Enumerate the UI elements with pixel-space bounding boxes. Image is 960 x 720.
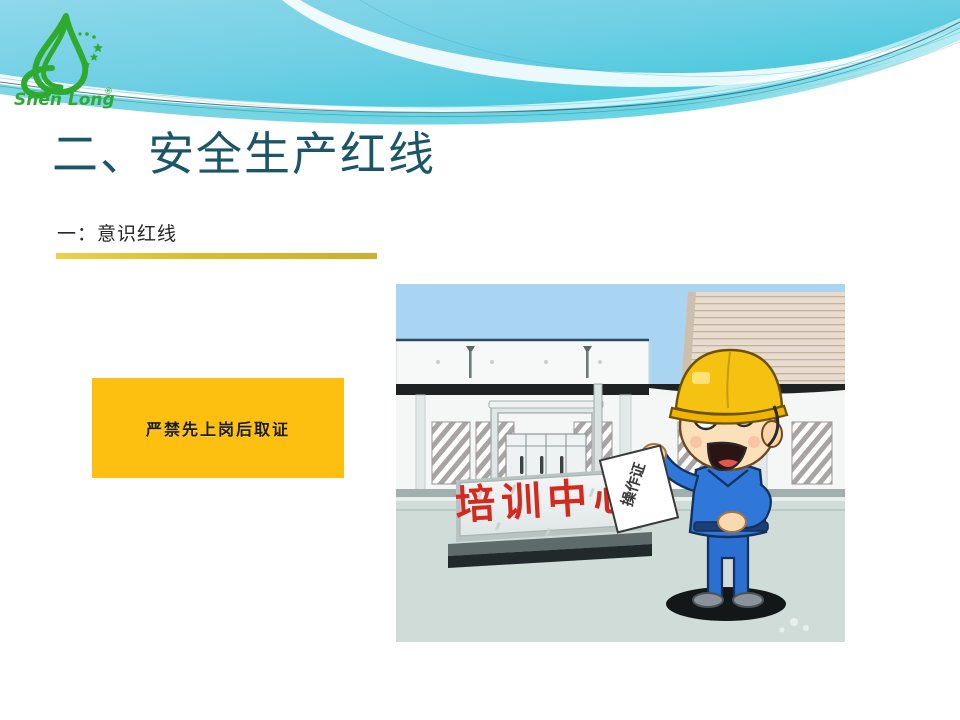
presentation-slide: Shen Long ® 二、安全生产红线 一：意识红线 严禁先上岗后取证 (0, 0, 960, 720)
callout-box: 严禁先上岗后取证 (92, 378, 344, 478)
section-subtitle: 一：意识红线 (57, 219, 177, 246)
page-title: 二、安全生产红线 (52, 126, 436, 184)
logo-wordmark: Shen Long (14, 90, 115, 110)
company-logo: Shen Long ® (8, 10, 130, 110)
header-wave-band (0, 0, 960, 125)
subtitle-divider (56, 253, 377, 259)
training-center-illustration: 培训中心 (396, 284, 845, 642)
callout-text: 严禁先上岗后取证 (146, 416, 290, 440)
registered-mark-icon: ® (104, 87, 113, 97)
